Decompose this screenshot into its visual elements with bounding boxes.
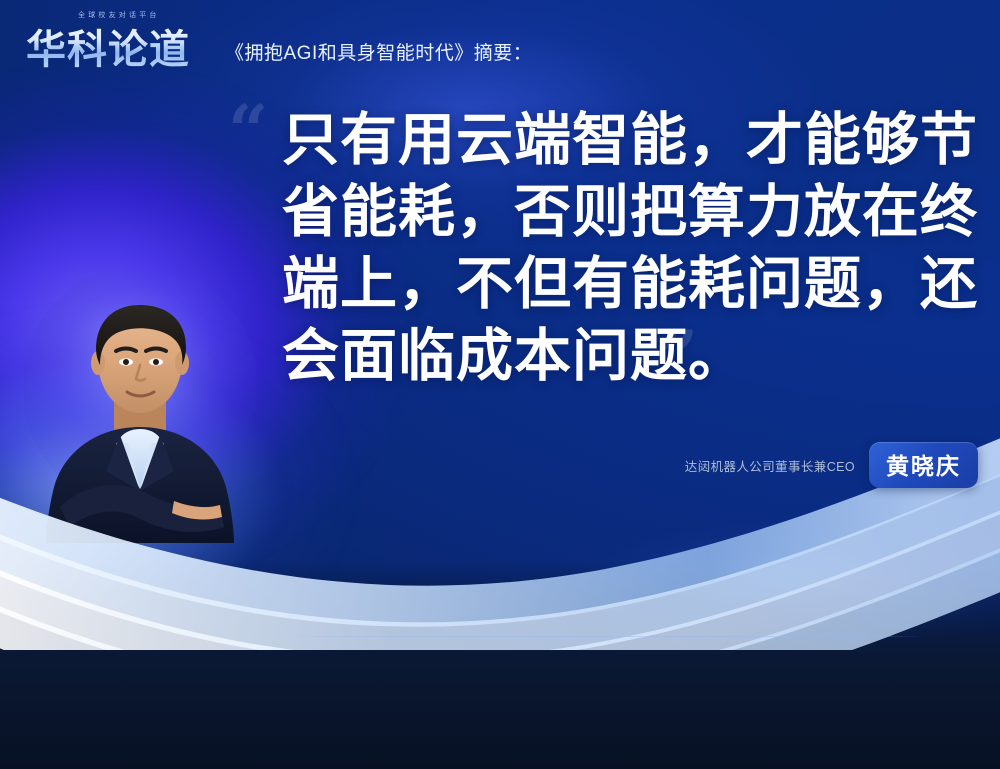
poster-header: 全球校友对话平台 华科论道 《拥抱AGI和具身智能时代》摘要：	[0, 0, 1000, 82]
quote-line: 会面临成本问题。	[282, 320, 942, 392]
page-title: 《拥抱AGI和具身智能时代》摘要：	[225, 38, 532, 65]
quote-line: 省能耗，否则把算力放在终	[282, 176, 942, 248]
quote-line: 端上，不但有能耗问题，还	[282, 248, 942, 320]
speaker-name-badge: 黄晓庆	[869, 442, 978, 488]
attribution: 达闼机器人公司董事长兼CEO 黄晓庆	[685, 442, 978, 488]
poster-footer: 入群请咨询工作人员： 微信号 srh15029033920（苏同学） 微信号 y…	[0, 640, 1000, 769]
footer-divider	[282, 636, 922, 637]
poster-root: 全球校友对话平台 华科论道 《拥抱AGI和具身智能时代》摘要： “ 只有用云端智…	[0, 0, 1000, 769]
speaker-role: 达闼机器人公司董事长兼CEO	[685, 456, 855, 475]
brand-logo-text: 华科论道	[26, 17, 190, 75]
speaker-portrait	[24, 275, 256, 543]
quote-text: 只有用云端智能，才能够节 省能耗，否则把算力放在终 端上，不但有能耗问题，还 会…	[282, 104, 942, 392]
quote-line: 只有用云端智能，才能够节	[282, 104, 942, 176]
quote-open-mark: “	[228, 96, 268, 166]
brand-logo[interactable]: 全球校友对话平台 华科论道	[26, 8, 216, 70]
